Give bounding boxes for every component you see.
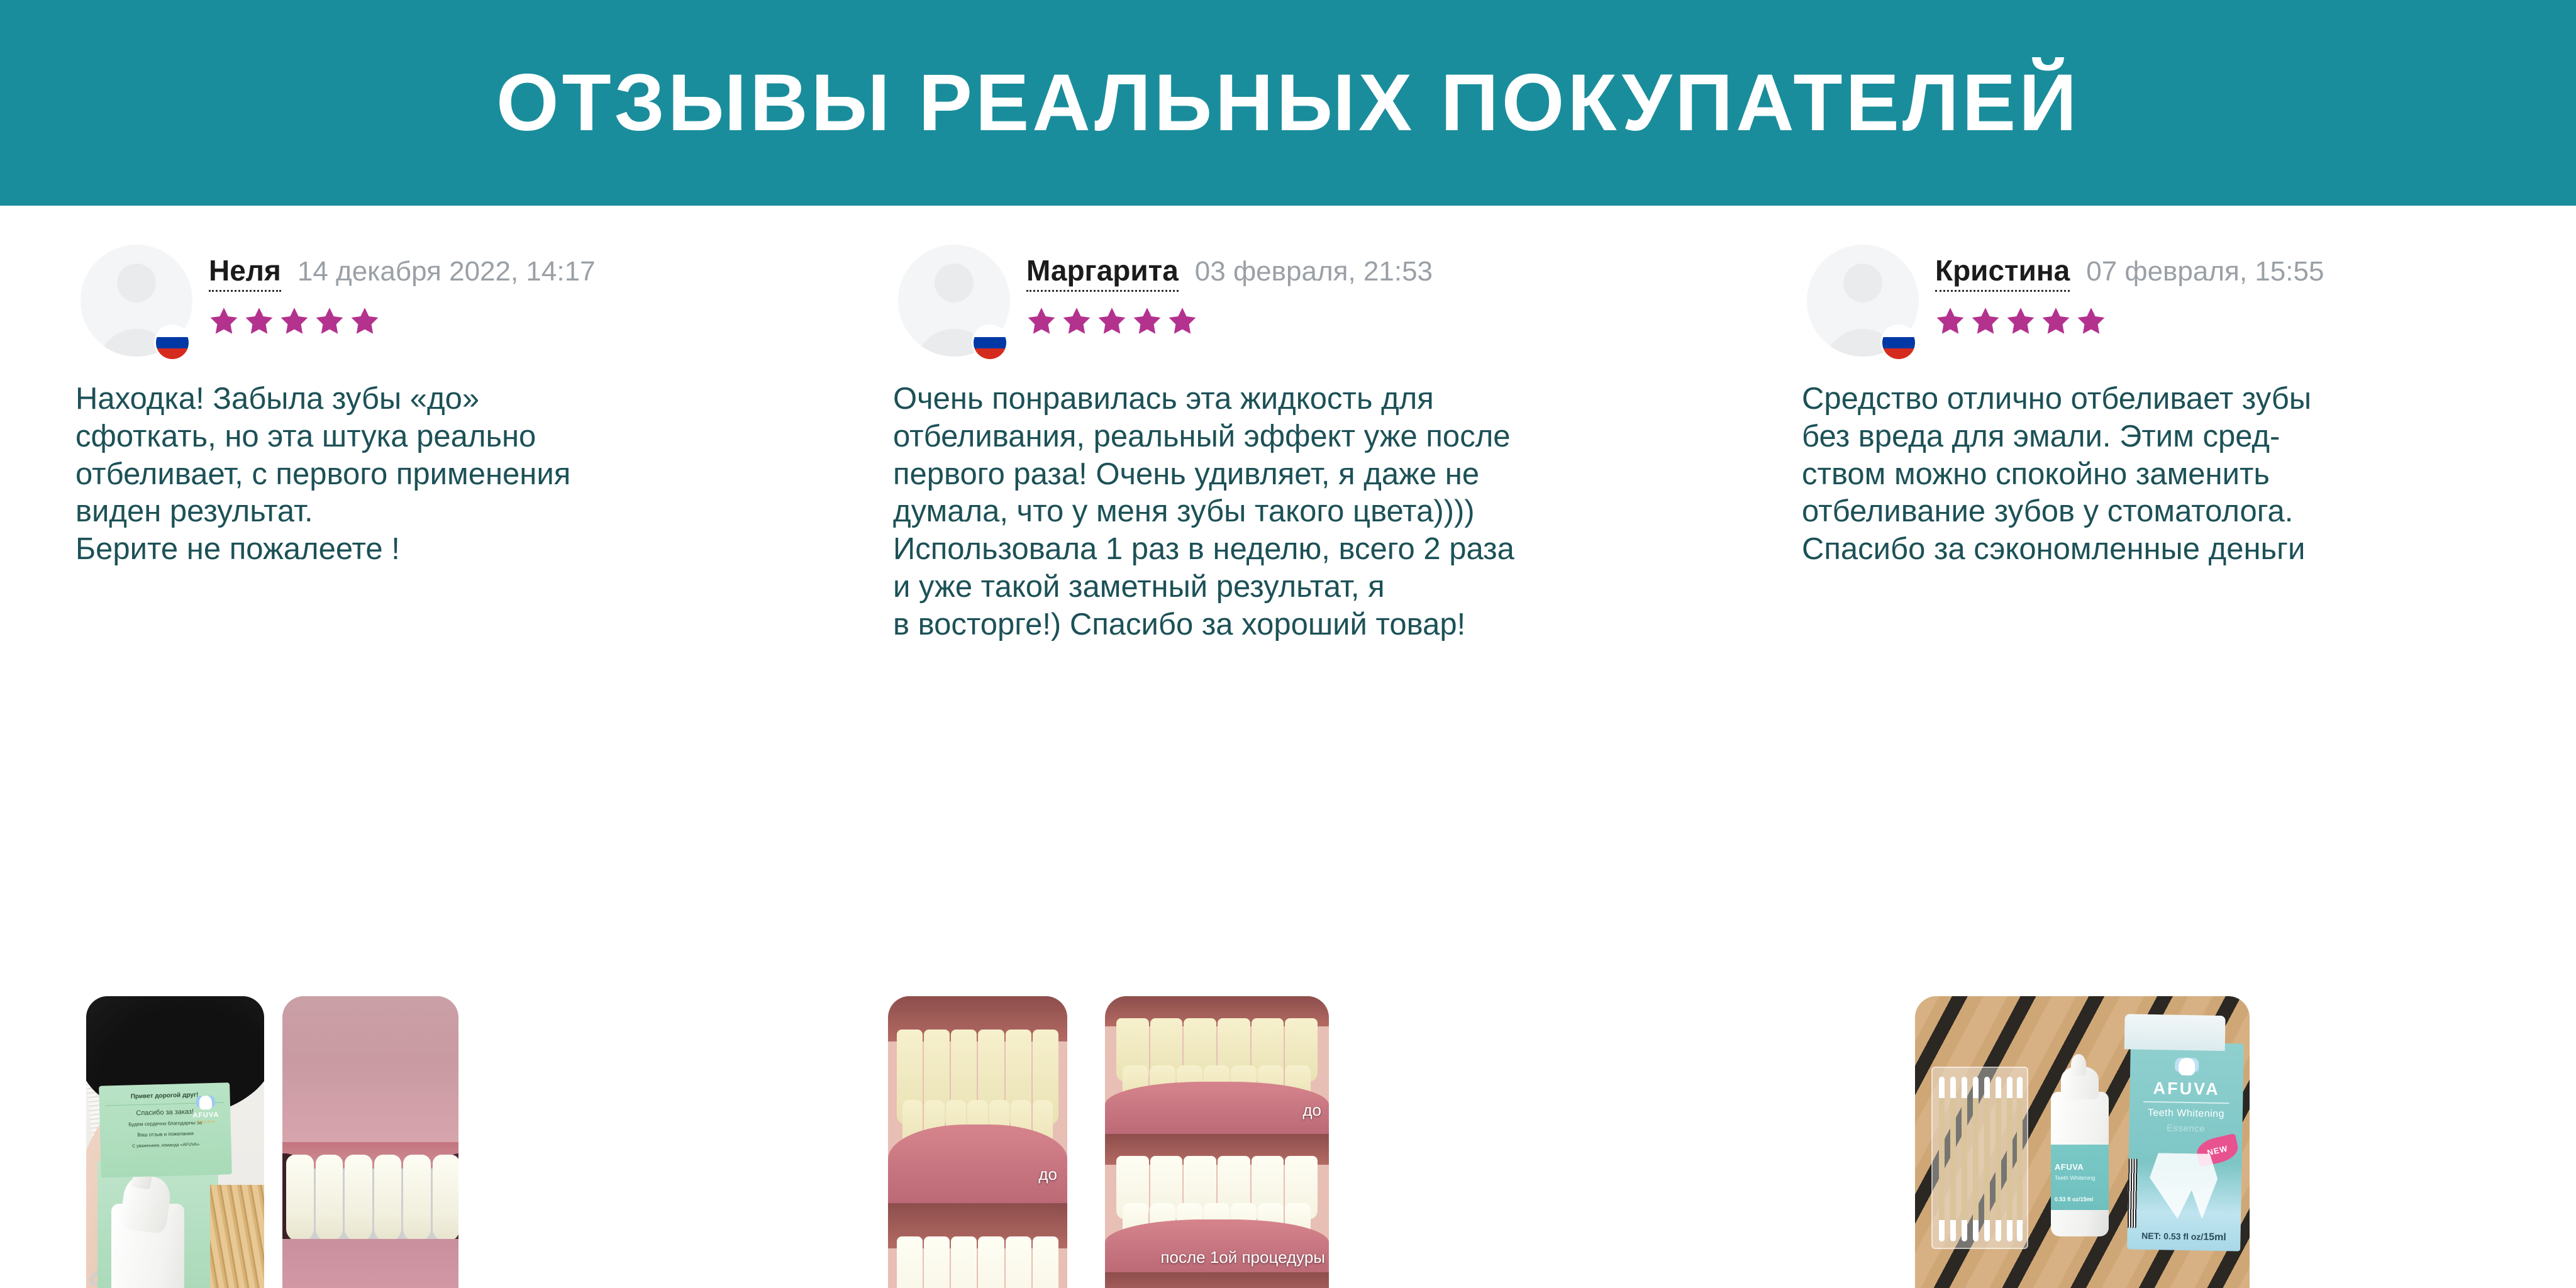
star-icon <box>279 306 309 336</box>
box-net-volume: 15ml <box>2203 1232 2226 1243</box>
review-photo[interactable] <box>282 996 458 1288</box>
star-icon <box>1970 306 2001 336</box>
reviewer-name[interactable]: Маргарита <box>1026 256 1179 292</box>
thank-you-card: Привет дорогой друг! Спасибо за заказ! Б… <box>99 1082 232 1177</box>
review-header: Неля 14 декабря 2022, 14:17 <box>75 206 874 362</box>
review-date: 07 февраля, 15:55 <box>2086 258 2324 286</box>
review-photo[interactable]: AFUVA Teeth Whitening 0.53 fl oz/15ml AF… <box>1915 996 2250 1288</box>
russia-flag-icon <box>974 326 1006 359</box>
card-signature: С уважением, команда «AFUVA» <box>107 1141 225 1150</box>
review-text: Находка! Забыла зубы «до» сфоткать, но э… <box>75 380 799 569</box>
tooth-illustration-icon <box>2149 1153 2218 1219</box>
reviewer-name[interactable]: Кристина <box>1935 256 2070 292</box>
avatar-head-shape <box>935 264 974 303</box>
bottle-brand: AFUVA <box>2055 1162 2084 1172</box>
star-icon <box>350 306 380 336</box>
review-card-3: Кристина 07 февраля, 15:55 Средство отли… <box>1789 206 2576 643</box>
review-meta: Маргарита 03 февраля, 21:53 <box>1026 242 1433 336</box>
reviewer-name[interactable]: Неля <box>209 256 281 292</box>
rating-stars <box>1935 306 2324 336</box>
cotton-swabs-bag <box>1931 1067 2028 1249</box>
star-icon <box>1167 306 1197 336</box>
review-date: 03 февраля, 21:53 <box>1195 258 1433 286</box>
tooth-icon <box>2179 1058 2195 1075</box>
review-photos: AFUVA Teeth Whitening 0.53 fl oz/15ml AF… <box>1915 996 2250 1288</box>
card-line-2: Ваш отзыв и пожелания <box>106 1130 225 1140</box>
card-brand-logo: AFUVA ESSENCE <box>189 1096 223 1125</box>
review-text: Средство отлично отбеливает зубы без вре… <box>1802 380 2566 569</box>
reviews-container: Неля 14 декабря 2022, 14:17 Находка! Заб… <box>0 206 2576 643</box>
product-box: AFUVA Teeth Whitening Essence NEW NET: 0… <box>2127 1041 2244 1251</box>
review-photos: AFUVA Teeth Whitening Essence Привет дор… <box>86 996 458 1288</box>
card-brand-sub: ESSENCE <box>189 1119 223 1124</box>
star-icon <box>1132 306 1162 336</box>
review-card-2: Маргарита 03 февраля, 21:53 Очень понрав… <box>874 206 1789 643</box>
russia-flag-icon <box>156 326 189 359</box>
star-icon <box>2041 306 2071 336</box>
tooth-icon <box>199 1096 213 1110</box>
review-photo[interactable]: AFUVA Teeth Whitening Essence Привет дор… <box>86 996 264 1288</box>
review-photo[interactable]: до после 1ой процедуры после 2ой п <box>1105 996 1329 1288</box>
star-icon <box>1062 306 1092 336</box>
rating-stars <box>1026 306 1433 336</box>
star-icon <box>244 306 274 336</box>
bottle-net: 0.53 fl oz/15ml <box>2055 1196 2093 1202</box>
review-header: Маргарита 03 февраля, 21:53 <box>893 206 1789 362</box>
box-line: Teeth Whitening <box>2129 1107 2243 1120</box>
box-net-weight: NET: 0.53 fl oz/15ml <box>2127 1230 2240 1243</box>
star-icon <box>1097 306 1127 336</box>
russia-flag-icon <box>1882 326 1915 359</box>
page-banner: ОТЗЫВЫ РЕАЛЬНЫХ ПОКУПАТЕЛЕЙ <box>0 0 2576 206</box>
photo-caption: до <box>1038 1165 1057 1184</box>
product-bottle: AFUVA Teeth Whitening 0.53 fl oz/15ml <box>2051 1092 2109 1236</box>
review-header: Кристина 07 февраля, 15:55 <box>1802 206 2576 362</box>
review-text: Очень понравилась эта жидкость для отбел… <box>893 380 1761 643</box>
photo-caption: после 1ой процедуры <box>1160 1248 1325 1267</box>
review-meta: Кристина 07 февраля, 15:55 <box>1935 242 2324 336</box>
bottle-line: Teeth Whitening <box>2055 1175 2096 1181</box>
photo-caption: до <box>1302 1101 1321 1120</box>
box-net-label: NET: 0.53 fl oz/ <box>2141 1231 2203 1242</box>
review-date: 14 декабря 2022, 14:17 <box>297 258 596 286</box>
star-icon <box>1935 306 1965 336</box>
avatar <box>1802 242 1921 362</box>
review-photo[interactable]: до после 2ой процедуры <box>888 996 1067 1288</box>
star-icon <box>209 306 239 336</box>
page-title: ОТЗЫВЫ РЕАЛЬНЫХ ПОКУПАТЕЛЕЙ <box>496 63 2080 143</box>
rating-stars <box>209 306 596 336</box>
box-brand: AFUVA <box>2129 1078 2243 1099</box>
avatar-head-shape <box>117 264 156 303</box>
review-meta: Неля 14 декабря 2022, 14:17 <box>209 242 596 336</box>
star-icon <box>2076 306 2106 336</box>
star-icon <box>1026 306 1057 336</box>
star-icon <box>314 306 345 336</box>
card-brand-name: AFUVA <box>189 1111 223 1121</box>
review-card-1: Неля 14 декабря 2022, 14:17 Находка! Заб… <box>0 206 874 643</box>
avatar-head-shape <box>1843 264 1882 303</box>
review-photos: до после 2ой процедуры <box>888 996 1329 1288</box>
box-sub: Essence <box>2129 1122 2242 1135</box>
avatar <box>75 242 195 362</box>
avatar <box>893 242 1013 362</box>
star-icon <box>2006 306 2036 336</box>
